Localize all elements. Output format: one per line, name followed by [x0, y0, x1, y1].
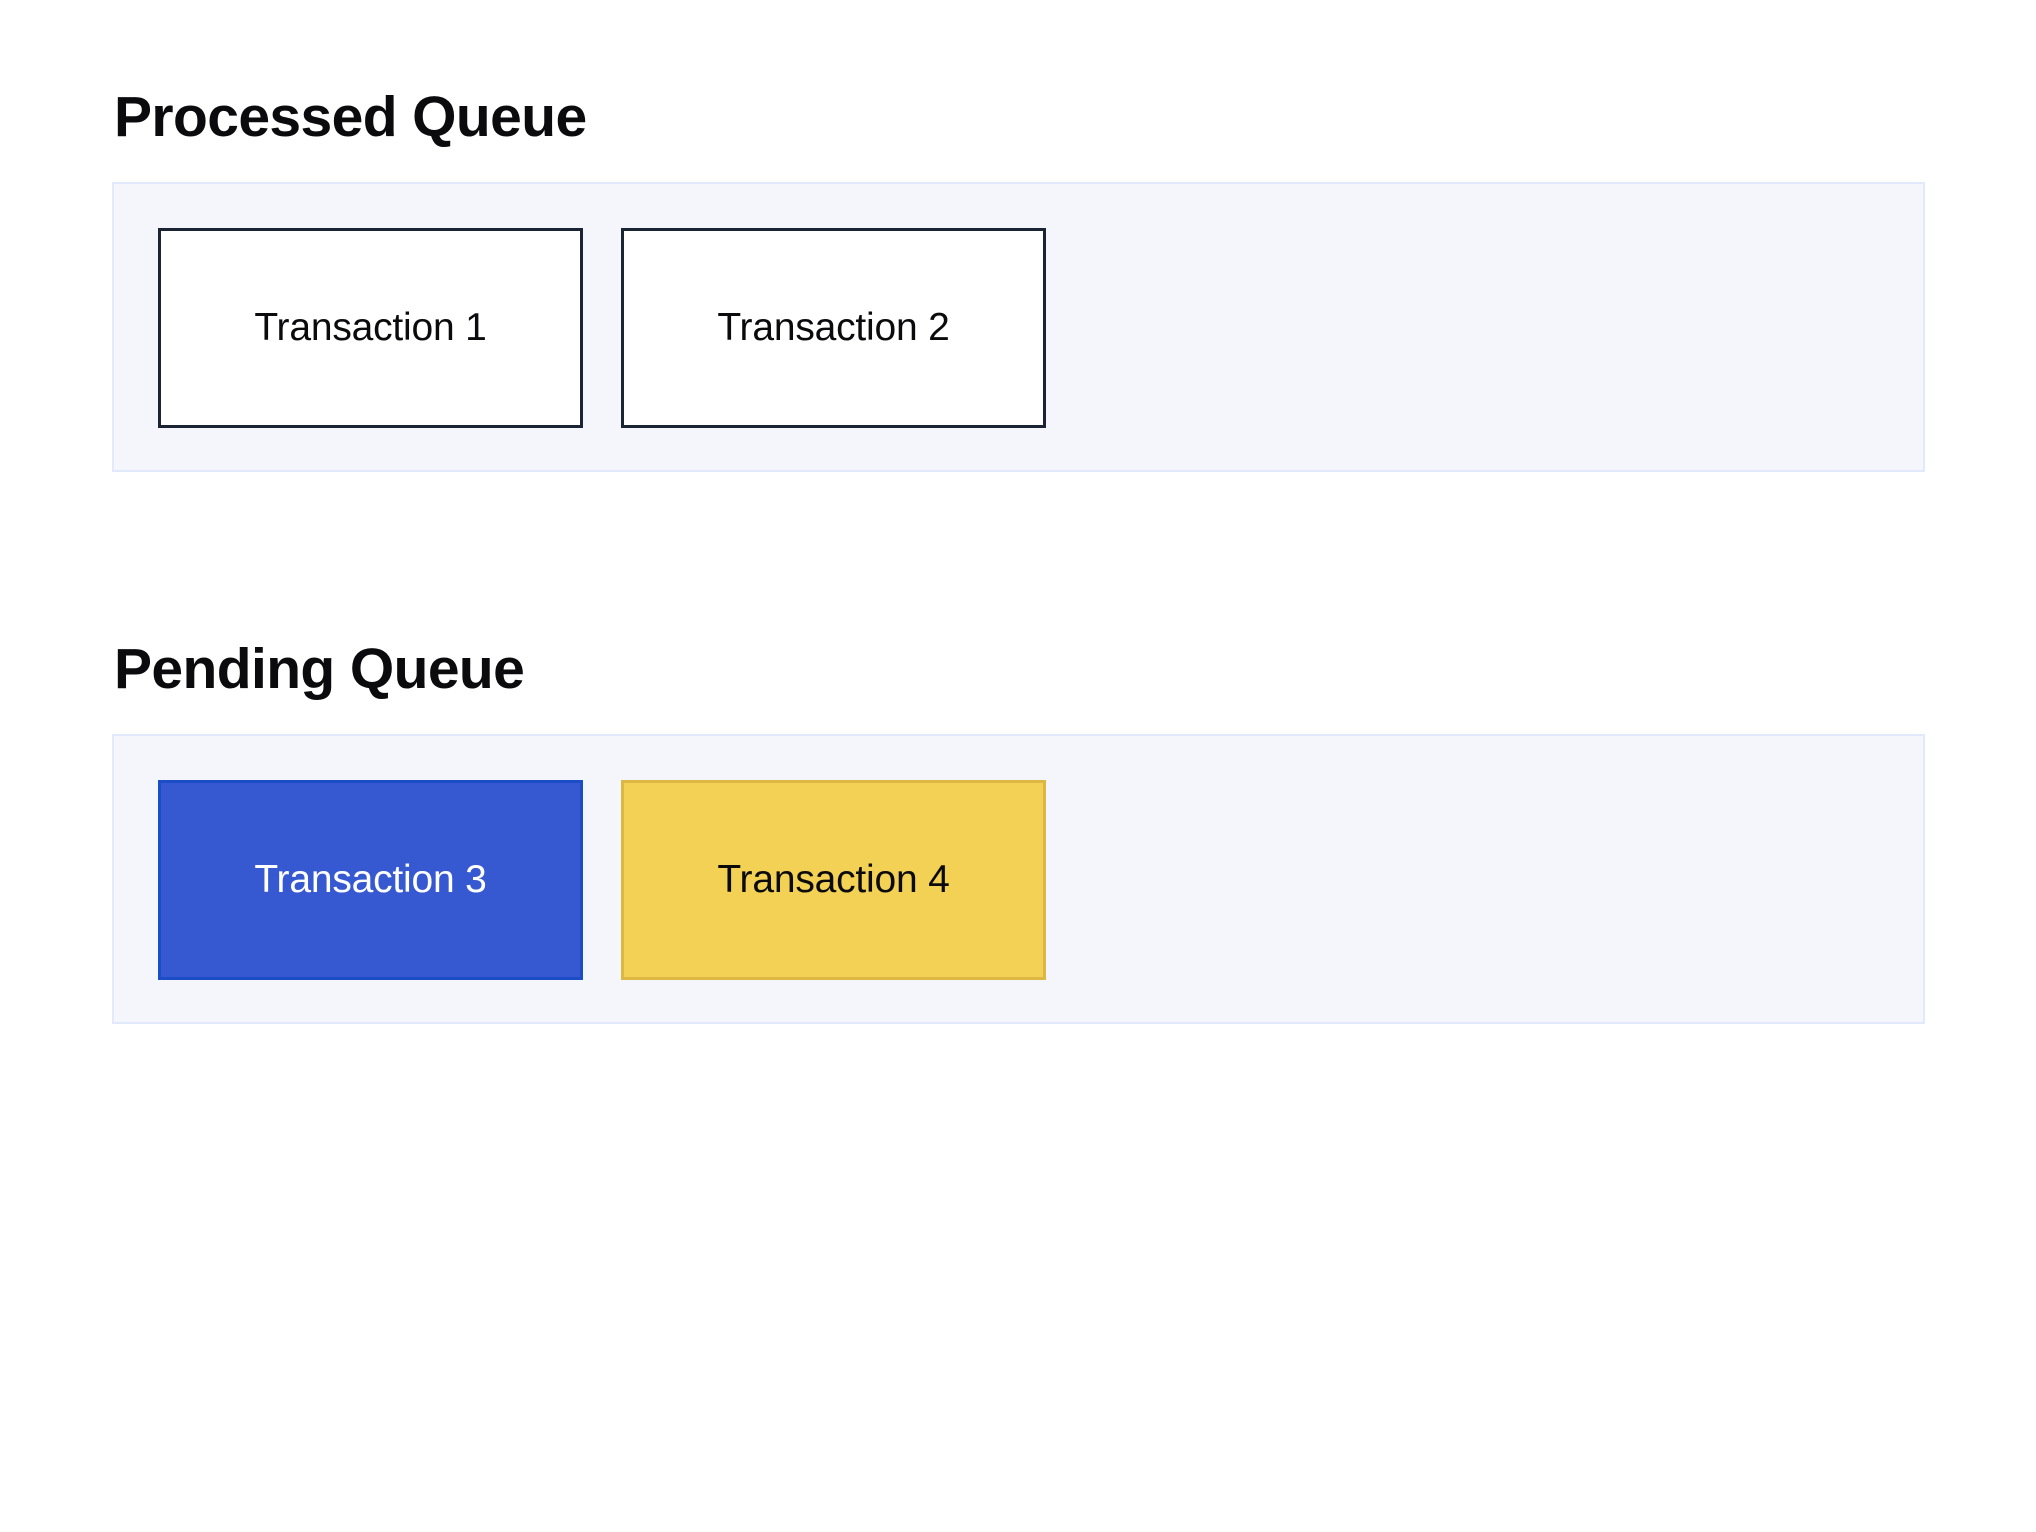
transaction-card-1[interactable]: Transaction 1: [158, 228, 583, 428]
transaction-card-2[interactable]: Transaction 2: [621, 228, 1046, 428]
section-processed-queue: Processed Queue Transaction 1 Transactio…: [112, 86, 1925, 472]
transaction-card-4[interactable]: Transaction 4: [621, 780, 1046, 980]
processed-queue-container: Transaction 1 Transaction 2: [112, 182, 1925, 472]
transaction-card-3[interactable]: Transaction 3: [158, 780, 583, 980]
transaction-card-3-label: Transaction 3: [254, 860, 486, 899]
transaction-card-4-label: Transaction 4: [717, 860, 949, 899]
pending-queue-container: Transaction 3 Transaction 4: [112, 734, 1925, 1024]
processed-queue-title: Processed Queue: [114, 86, 1925, 149]
transaction-card-1-label: Transaction 1: [254, 308, 486, 347]
pending-queue-title: Pending Queue: [114, 638, 1925, 701]
transaction-card-2-label: Transaction 2: [717, 308, 949, 347]
queue-visualization-page: Processed Queue Transaction 1 Transactio…: [0, 0, 2036, 1532]
section-pending-queue: Pending Queue Transaction 3 Transaction …: [112, 638, 1925, 1024]
